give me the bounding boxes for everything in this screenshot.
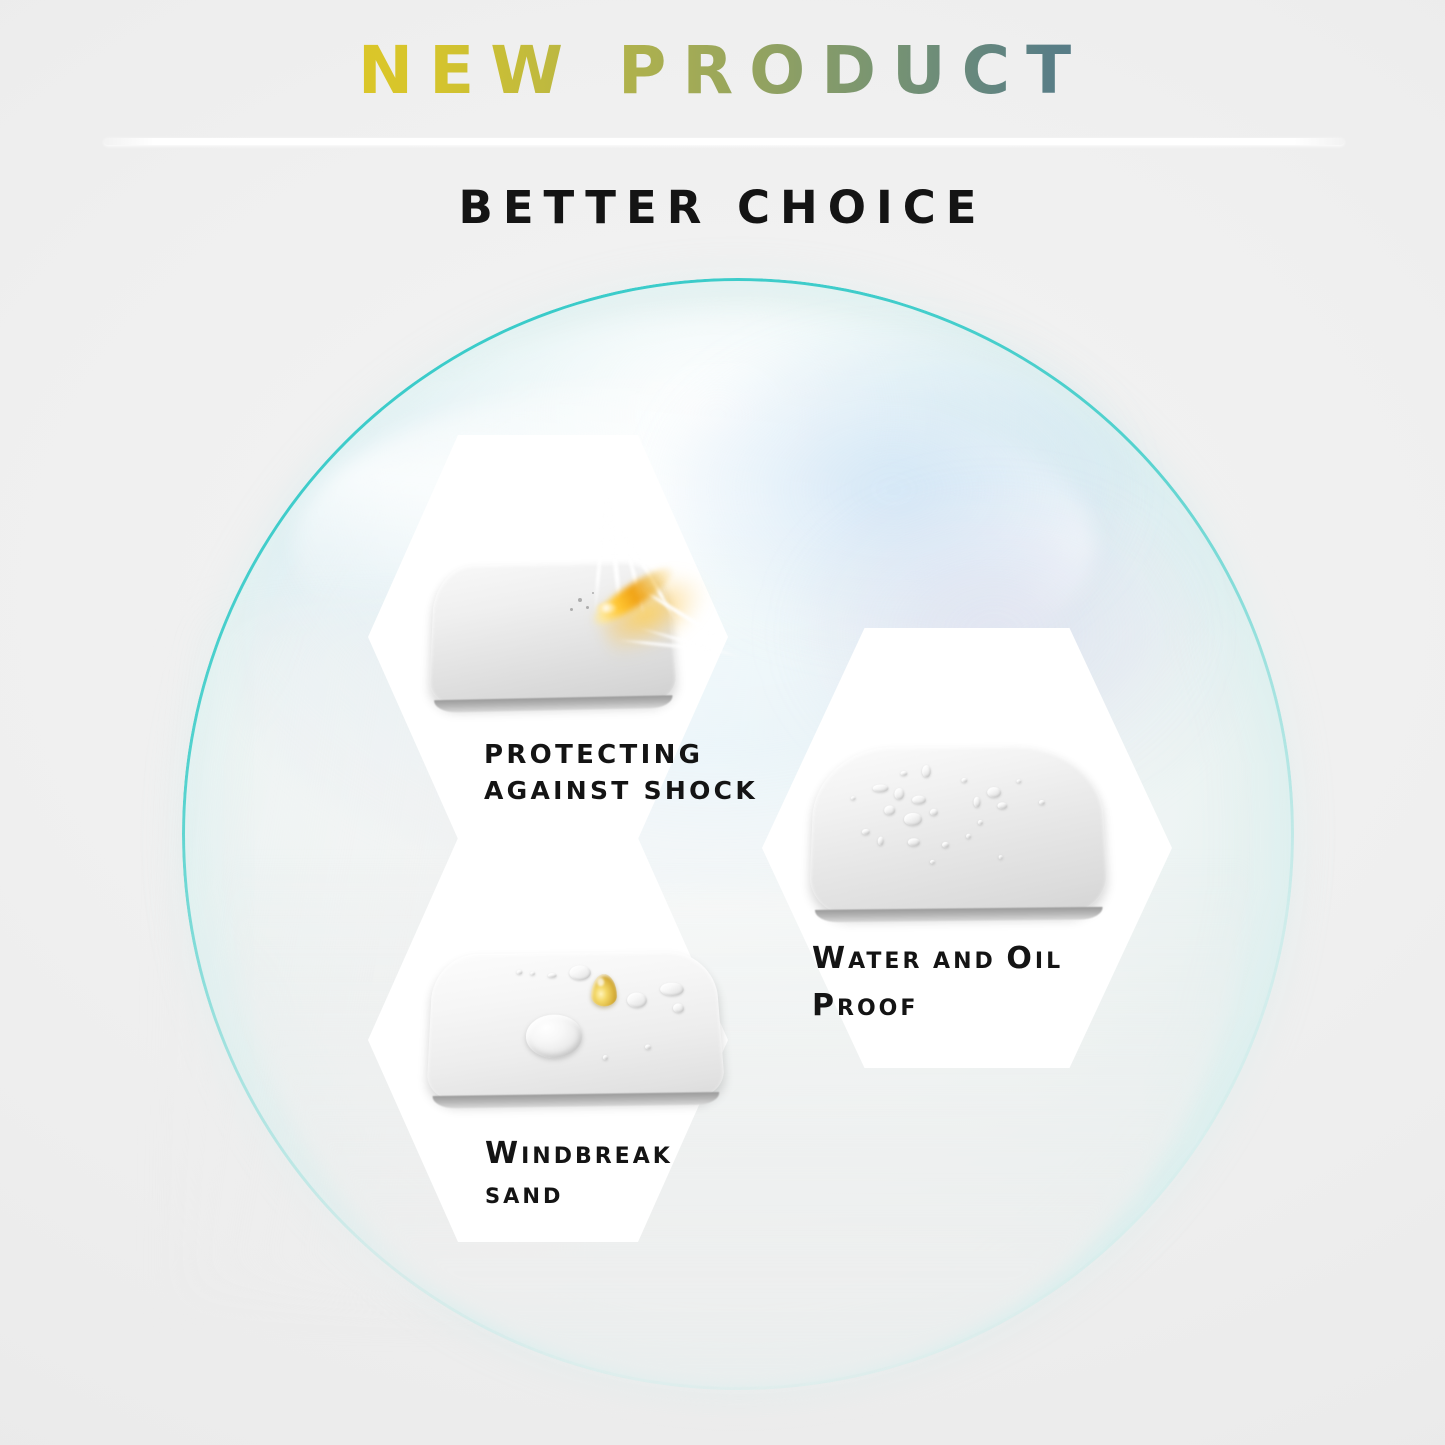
caption-line-2: AGAINST SHOCK [484,774,758,809]
lens-image-windbreak [426,951,726,1103]
water-droplet [912,795,926,804]
water-droplet [660,983,684,996]
water-droplet [673,1003,684,1013]
page-title: NEW PRODUCT [0,38,1445,104]
water-droplet [569,965,591,980]
feature-caption-waterproof: WATER AND OIL PROOF [812,938,1063,1027]
water-droplet [930,809,938,816]
water-droplet [530,971,535,975]
water-droplet [851,796,856,800]
water-droplet [966,834,971,839]
water-droplet [900,771,907,776]
caption-text: INDBREAK [521,1144,673,1169]
water-droplet [627,992,647,1007]
water-droplet [878,837,884,846]
feature-caption-shock: PROTECTING AGAINST SHOCK [484,738,758,808]
water-droplet [922,765,931,777]
caption-line-2: SAND [485,1182,673,1211]
water-droplet [517,970,523,975]
water-droplet [987,787,1001,798]
caption-initial: W [485,1136,521,1171]
oil-droplet [591,974,617,1007]
water-droplet [548,973,557,978]
title-divider [104,138,1344,145]
caption-text: ATER AND [848,949,1006,974]
water-droplet [978,820,983,825]
water-droplet [973,797,980,808]
promo-banner: NEW PRODUCT BETTER CHOICE PROTECTING AGA… [0,0,1445,1445]
caption-line-1: PROTECTING [484,740,703,770]
water-droplet [884,805,895,815]
water-droplet [603,1055,608,1060]
caption-initial: O [1006,941,1035,976]
water-droplet [873,784,889,792]
large-water-bead [526,1014,583,1058]
page-subtitle: BETTER CHOICE [0,181,1445,234]
water-droplet [1039,800,1045,805]
lens-image-shock [429,561,679,706]
water-droplet [908,838,920,846]
caption-initial: W [812,941,848,976]
caption-text: IL [1035,949,1063,974]
water-droplet [999,855,1003,859]
water-droplet [894,788,904,800]
water-droplet [904,813,922,826]
water-droplet [862,829,870,835]
water-droplet [930,860,935,864]
water-droplet [1016,779,1021,783]
water-droplet [997,802,1007,809]
feature-caption-windbreak: WINDBREAK SAND [485,1133,673,1211]
water-droplet [645,1045,651,1050]
caption-text: ROOF [837,996,918,1021]
caption-initial: P [812,988,837,1023]
water-droplet [942,842,949,848]
lens-image-waterproof [809,745,1110,916]
water-droplet [961,778,967,783]
